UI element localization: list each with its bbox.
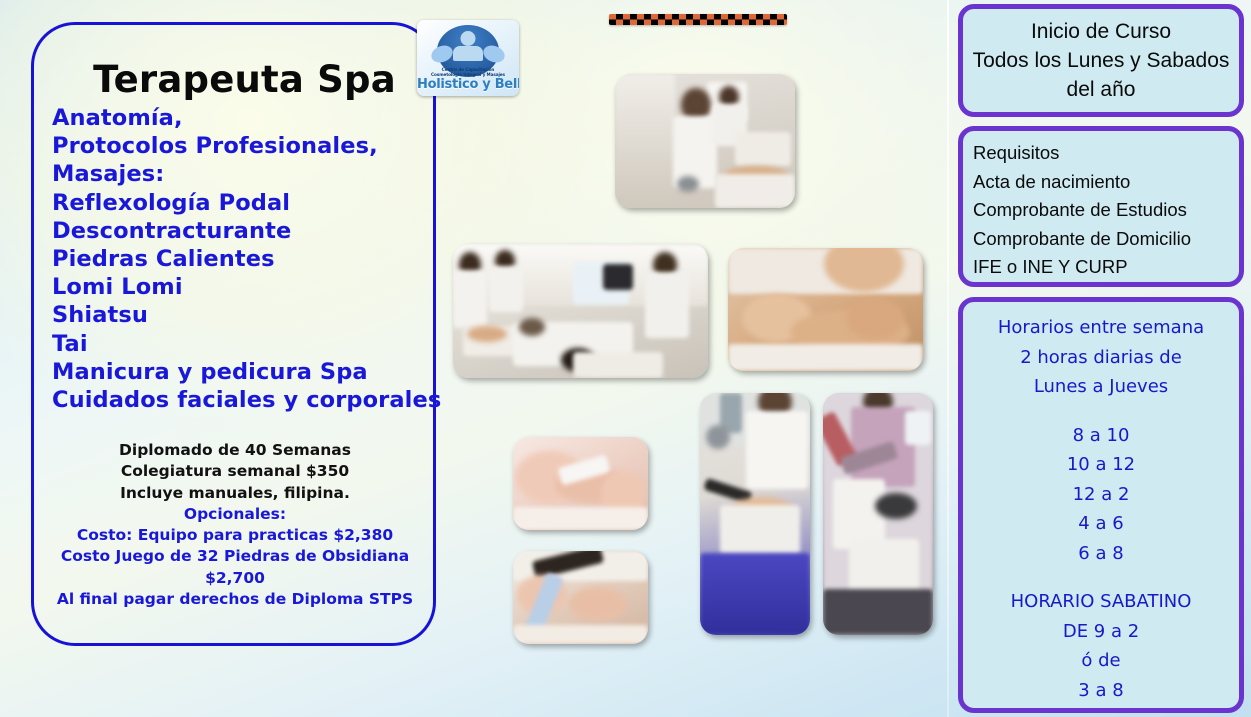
photo-stretch-tall [823,393,933,635]
list-item: Manicura y pedicura Spa [52,358,452,386]
requisito-line: Comprobante de Domicilio [973,225,1239,254]
horario-line: 2 horas diarias de [963,343,1239,373]
service-list: Anatomía, Protocolos Profesionales, Masa… [52,104,452,414]
list-item: Reflexología Podal [52,189,452,217]
list-item: Shiatsu [52,301,452,329]
horario-spacer [963,402,1239,421]
list-item: Lomi Lomi [52,273,452,301]
detail-line: $2,700 [46,568,424,589]
horario-line: 4 a 6 [963,509,1239,539]
column-divider [947,0,949,717]
photo-leg-massage [728,248,923,371]
horario-line: 3 a 8 [963,676,1239,706]
detail-line: Costo: Equipo para practicas $2,380 [46,525,424,546]
horario-line: 6 a 8 [963,539,1239,569]
pricing-details: Diplomado de 40 Semanas Colegiatura sema… [46,440,424,610]
photo-content [453,244,708,378]
poster-canvas: Terapeuta Spa Anatomía, Protocolos Profe… [0,0,1251,717]
photo-clinic-top [615,74,795,208]
horario-line: 8 a 10 [963,421,1239,451]
detail-line: Diplomado de 40 Semanas [46,440,424,461]
photo-content [728,248,923,371]
list-item: Protocolos Profesionales, [52,132,452,160]
detail-line: Al final pagar derechos de Diploma STPS [46,589,424,610]
requisitos-box: Requisitos Acta de nacimiento Comprobant… [958,126,1244,287]
horario-line: 12 a 2 [963,480,1239,510]
detail-line: Colegiatura semanal $350 [46,461,424,482]
horario-spacer [963,568,1239,587]
detail-line: Incluye manuales, filipina. [46,483,424,504]
photo-content [700,393,810,635]
list-item: Anatomía, [52,104,452,132]
photo-content [513,551,648,644]
horario-line: DE 9 a 2 [963,617,1239,647]
page-title: Terapeuta Spa [31,58,436,101]
detail-line: Opcionales: [46,504,424,525]
list-item: Piedras Calientes [52,245,452,273]
list-item: Masajes: [52,160,452,188]
photo-classroom [453,244,708,378]
horario-line: Lunes a Jueves [963,372,1239,402]
checker-decoration-bar [609,14,787,25]
photo-pedicure [513,551,648,644]
inicio-line: del año [963,75,1239,104]
requisito-line: Requisitos [973,139,1239,168]
photo-content [513,437,648,530]
list-item: Descontracturante [52,217,452,245]
horario-line: Horarios entre semana [963,313,1239,343]
requisito-line: Acta de nacimiento [973,168,1239,197]
company-logo: Centro de Capacitación Cosmetología Inte… [417,20,519,96]
inicio-de-curso-box: Inicio de Curso Todos los Lunes y Sabado… [958,4,1244,117]
logo-body-icon [453,46,483,61]
photo-therapy-tall [700,393,810,635]
inicio-line: Inicio de Curso [963,17,1239,46]
horario-line: ó de [963,646,1239,676]
photo-content [615,74,795,208]
photo-content [823,393,933,635]
photo-manicure [513,437,648,530]
horarios-box: Horarios entre semana 2 horas diarias de… [958,297,1244,713]
detail-line: Costo Juego de 32 Piedras de Obsidiana [46,546,424,567]
list-item: Cuidados faciales y corporales [52,386,452,414]
requisito-line: IFE o INE Y CURP [973,253,1239,282]
horario-line: HORARIO SABATINO [963,587,1239,617]
list-item: Tai [52,330,452,358]
logo-head-icon [461,31,476,46]
logo-brand-name: Holistico y Belleza [417,77,519,92]
requisito-line: Comprobante de Estudios [973,196,1239,225]
inicio-line: Todos los Lunes y Sabados [963,46,1239,75]
horario-line: 10 a 12 [963,450,1239,480]
